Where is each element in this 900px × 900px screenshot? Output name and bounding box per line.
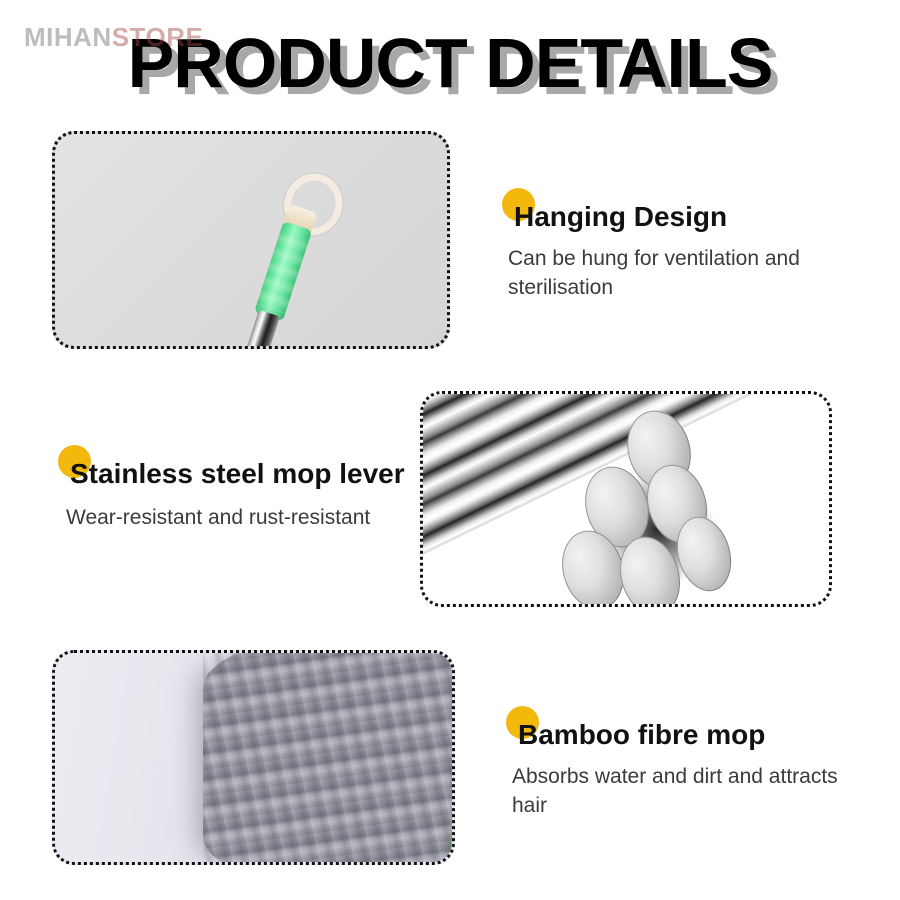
feature-image-hanging-design: [52, 131, 450, 349]
page-title: PRODUCT DETAILS PRODUCT DETAILS: [0, 22, 900, 104]
feature-heading-hanging-design: Hanging Design: [508, 200, 727, 234]
feature-body-stainless-steel: Wear-resistant and rust-resistant: [64, 503, 405, 532]
chrome-pole: [225, 310, 280, 349]
product-details-infographic: MIHANSTORE PRODUCT DETAILS PRODUCT DETAI…: [0, 0, 900, 900]
feature-body-hanging-design: Can be hung for ventilation and sterilis…: [508, 244, 858, 302]
feature-body-bamboo-fibre: Absorbs water and dirt and attracts hair: [512, 762, 862, 820]
feature-image-stainless-steel: [420, 391, 832, 607]
feature-bamboo-fibre-mop: Bamboo fibre mop Absorbs water and dirt …: [512, 718, 862, 820]
feature-image-bamboo-fibre-mop: [52, 650, 455, 865]
feature-heading-text: Stainless steel mop lever: [70, 458, 405, 489]
feature-heading-text: Hanging Design: [514, 201, 727, 232]
page-title-text: PRODUCT DETAILS: [0, 22, 900, 104]
feature-hanging-design: Hanging Design Can be hung for ventilati…: [508, 200, 858, 302]
feature-heading-text: Bamboo fibre mop: [518, 719, 765, 750]
feature-heading-stainless-steel: Stainless steel mop lever: [64, 457, 405, 491]
feature-heading-bamboo-fibre: Bamboo fibre mop: [512, 718, 765, 752]
green-grip: [254, 221, 312, 322]
green-binding-band: [449, 650, 455, 865]
steel-rods-illustration: [423, 394, 829, 604]
mop-yarn-strands: [203, 650, 455, 865]
mop-handle-illustration: [201, 155, 377, 349]
feature-stainless-steel-mop-lever: Stainless steel mop lever Wear-resistant…: [64, 457, 405, 532]
